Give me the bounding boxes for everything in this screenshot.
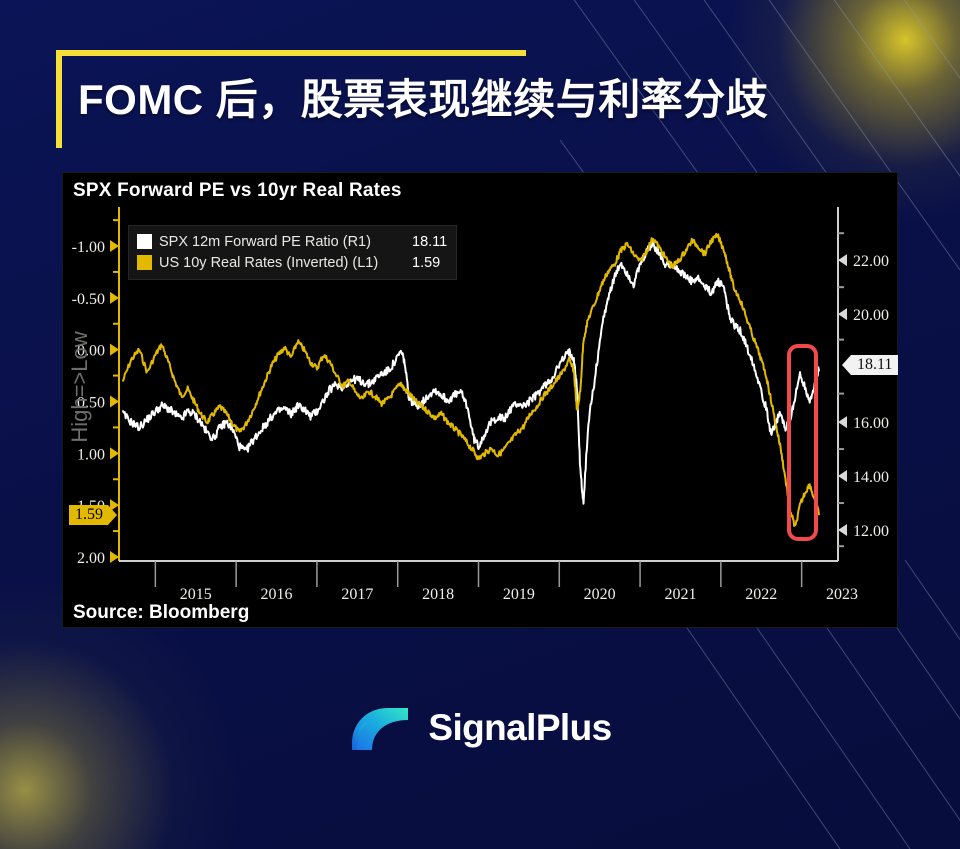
- left-axis-title: High=>Low: [67, 331, 92, 442]
- left-axis-tick: 1.00: [77, 446, 105, 463]
- right-axis-value-badge: 18.11: [851, 355, 898, 375]
- accent-left-bar: [56, 50, 62, 148]
- legend-label-real-rates: US 10y Real Rates (Inverted) (L1): [159, 255, 412, 271]
- right-axis-tick: 20.00: [853, 307, 889, 324]
- x-axis-tick: 2020: [584, 586, 616, 603]
- legend-item: SPX 12m Forward PE Ratio (R1) 18.11: [137, 231, 447, 252]
- x-axis-tick: 2023: [826, 586, 858, 603]
- legend-item: US 10y Real Rates (Inverted) (L1) 1.59: [137, 252, 447, 273]
- series-spx-forward-pe: [123, 242, 819, 503]
- page-title: FOMC 后，股票表现继续与利率分歧: [78, 66, 768, 127]
- left-axis-value-badge: 1.59: [69, 505, 108, 525]
- left-axis-tick: -1.00: [72, 239, 105, 256]
- right-axis-tick: 12.00: [853, 523, 889, 540]
- x-axis-tick: 2021: [664, 586, 696, 603]
- legend-value-spx: 18.11: [412, 234, 447, 250]
- x-axis-tick: 2016: [261, 586, 293, 603]
- right-axis-tick: 14.00: [853, 469, 889, 486]
- legend-label-spx: SPX 12m Forward PE Ratio (R1): [159, 234, 412, 250]
- x-axis-tick: 2015: [180, 586, 212, 603]
- chart-panel: SPX Forward PE vs 10yr Real Rates -1.00-…: [62, 172, 898, 628]
- right-axis-tick: 22.00: [853, 253, 889, 270]
- x-axis-tick: 2019: [503, 586, 535, 603]
- x-axis-tick: 2018: [422, 586, 454, 603]
- x-axis-tick: 2022: [745, 586, 777, 603]
- signalplus-wave-icon: [348, 700, 412, 756]
- right-axis-tick: 16.00: [853, 415, 889, 432]
- title-block: FOMC 后，股票表现继续与利率分歧: [56, 50, 746, 111]
- legend-value-real-rates: 1.59: [412, 255, 440, 271]
- x-axis-tick: 2017: [341, 586, 373, 603]
- left-axis-tick: 2.00: [77, 550, 105, 567]
- left-axis-tick: -0.50: [72, 291, 105, 308]
- brand-logo: SignalPlus: [0, 700, 960, 756]
- chart-legend: SPX 12m Forward PE Ratio (R1) 18.11 US 1…: [128, 225, 457, 280]
- legend-swatch-real-rates: [137, 255, 152, 270]
- accent-top-bar: [56, 50, 526, 56]
- brand-name: SignalPlus: [428, 707, 611, 749]
- legend-swatch-spx: [137, 234, 152, 249]
- chart-source: Source: Bloomberg: [73, 602, 249, 624]
